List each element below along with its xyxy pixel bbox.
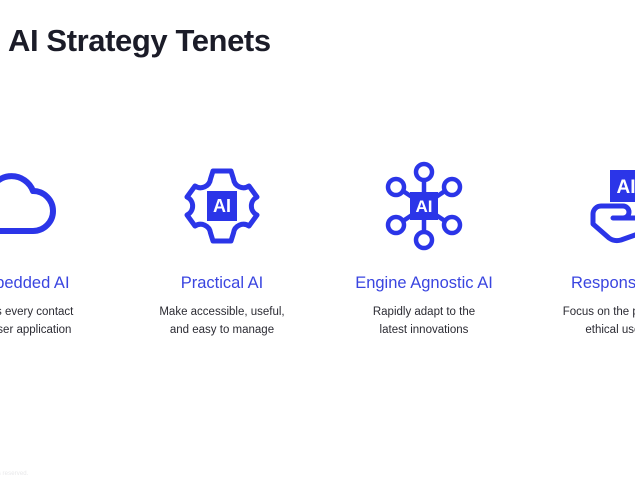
tenet-description: Across every contact and user applicatio… [0, 304, 73, 340]
hand-ai-icon: AI [580, 160, 635, 252]
tenet-description: Focus on the private and ethical use of … [563, 304, 635, 340]
tenet-item-embedded-ai[interactable]: Embedded AI Across every contact and use… [0, 160, 121, 340]
tenets-row: Embedded AI Across every contact and use… [0, 160, 635, 340]
cloud-icon [0, 160, 66, 252]
tenet-label: Engine Agnostic AI [355, 274, 493, 293]
svg-text:AI: AI [617, 177, 635, 198]
tenet-label: Responsible AI [571, 274, 635, 293]
slide-canvas: AI Strategy Tenets Embedded AI Across ev… [0, 0, 635, 485]
page-title: AI Strategy Tenets [8, 23, 271, 59]
tenet-label: Practical AI [181, 274, 264, 293]
footer-copyright: Copyright. All rights reserved. [0, 471, 28, 477]
tenet-label: Embedded AI [0, 274, 70, 293]
gear-ai-icon: AI [176, 160, 268, 252]
svg-text:AI: AI [213, 196, 231, 216]
tenet-description: Make accessible, useful, and easy to man… [159, 304, 284, 340]
tenet-item-engine-agnostic-ai[interactable]: AI Engine Agnostic AI Rapidly adapt to t… [323, 160, 525, 340]
tenet-item-responsible-ai[interactable]: AI Responsible AI Focus on the private a… [525, 160, 635, 340]
network-ai-icon: AI [378, 160, 470, 252]
tenet-description: Rapidly adapt to the latest innovations [373, 304, 475, 340]
svg-text:AI: AI [416, 197, 433, 216]
tenet-item-practical-ai[interactable]: AI Practical AI Make accessible, useful,… [121, 160, 323, 340]
